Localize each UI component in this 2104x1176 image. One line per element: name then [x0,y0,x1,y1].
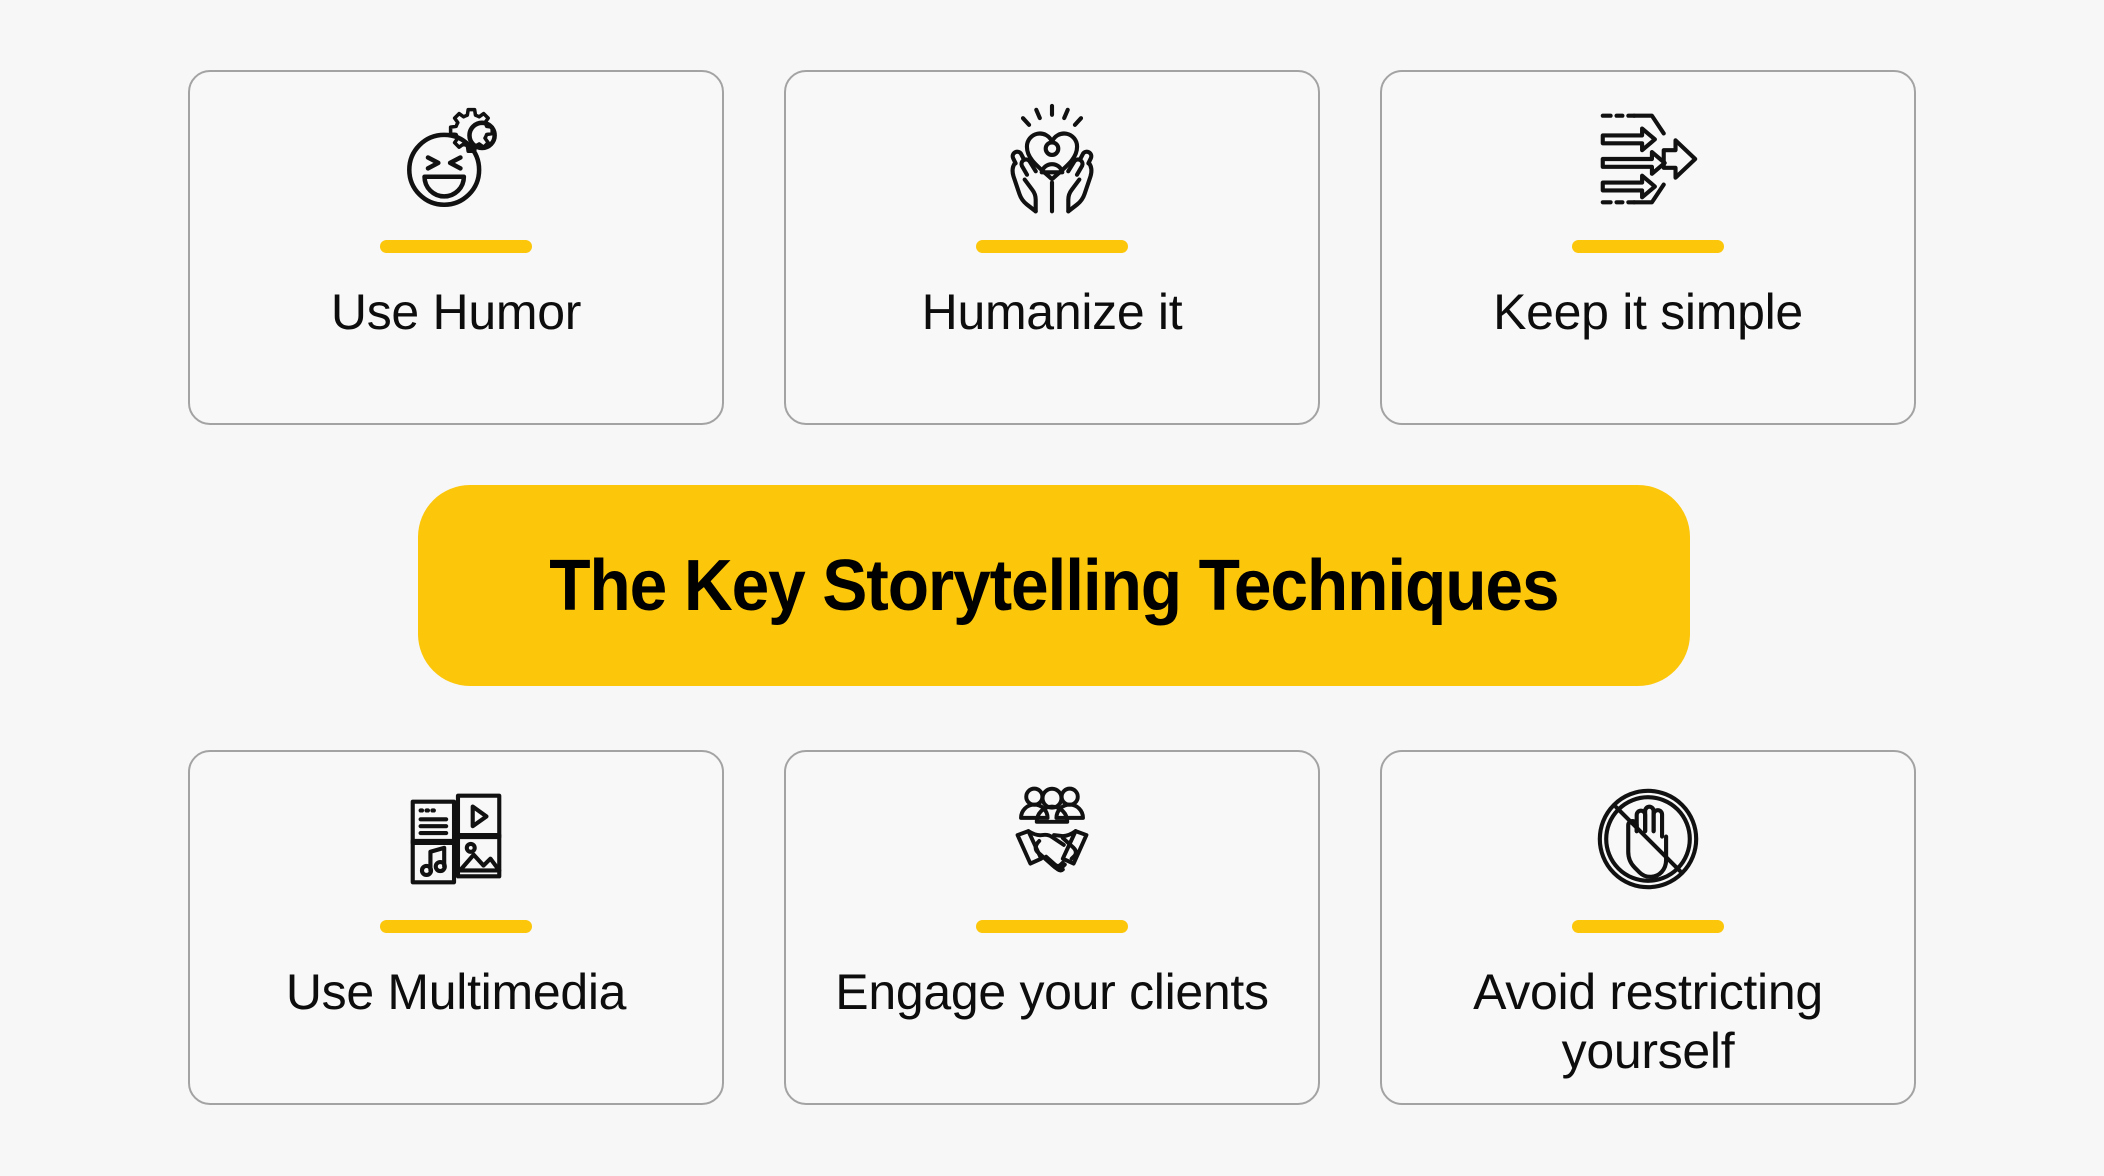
hands-holding-heart-person-icon [993,100,1111,218]
card-keep-it-simple[interactable]: Keep it simple [1380,70,1916,425]
card-use-multimedia[interactable]: Use Multimedia [188,750,724,1105]
card-accent-rule [1572,920,1724,933]
card-use-humor[interactable]: Use Humor [188,70,724,425]
card-label: Avoid restricting yourself [1418,963,1878,1081]
card-label: Use Multimedia [286,963,626,1022]
card-accent-rule [380,920,532,933]
card-accent-rule [976,920,1128,933]
card-label: Engage your clients [835,963,1268,1022]
multimedia-grid-icon [397,780,515,898]
laughing-face-gear-icon [397,100,515,218]
card-label: Humanize it [922,283,1183,342]
card-label: Use Humor [331,283,581,342]
page-title: The Key Storytelling Techniques [549,545,1558,627]
banner-key-storytelling-techniques: The Key Storytelling Techniques [418,485,1690,686]
card-row-top: Use Humor [188,70,1916,425]
infographic-canvas: Use Humor [0,0,2104,1176]
card-label: Keep it simple [1493,283,1803,342]
card-accent-rule [380,240,532,253]
arrows-converging-icon [1589,100,1707,218]
no-hand-prohibition-icon [1589,780,1707,898]
card-accent-rule [976,240,1128,253]
card-row-bottom: Use Multimedia [188,750,1916,1105]
card-humanize-it[interactable]: Humanize it [784,70,1320,425]
handshake-people-icon [993,780,1111,898]
card-avoid-restricting-yourself[interactable]: Avoid restricting yourself [1380,750,1916,1105]
card-engage-your-clients[interactable]: Engage your clients [784,750,1320,1105]
card-accent-rule [1572,240,1724,253]
